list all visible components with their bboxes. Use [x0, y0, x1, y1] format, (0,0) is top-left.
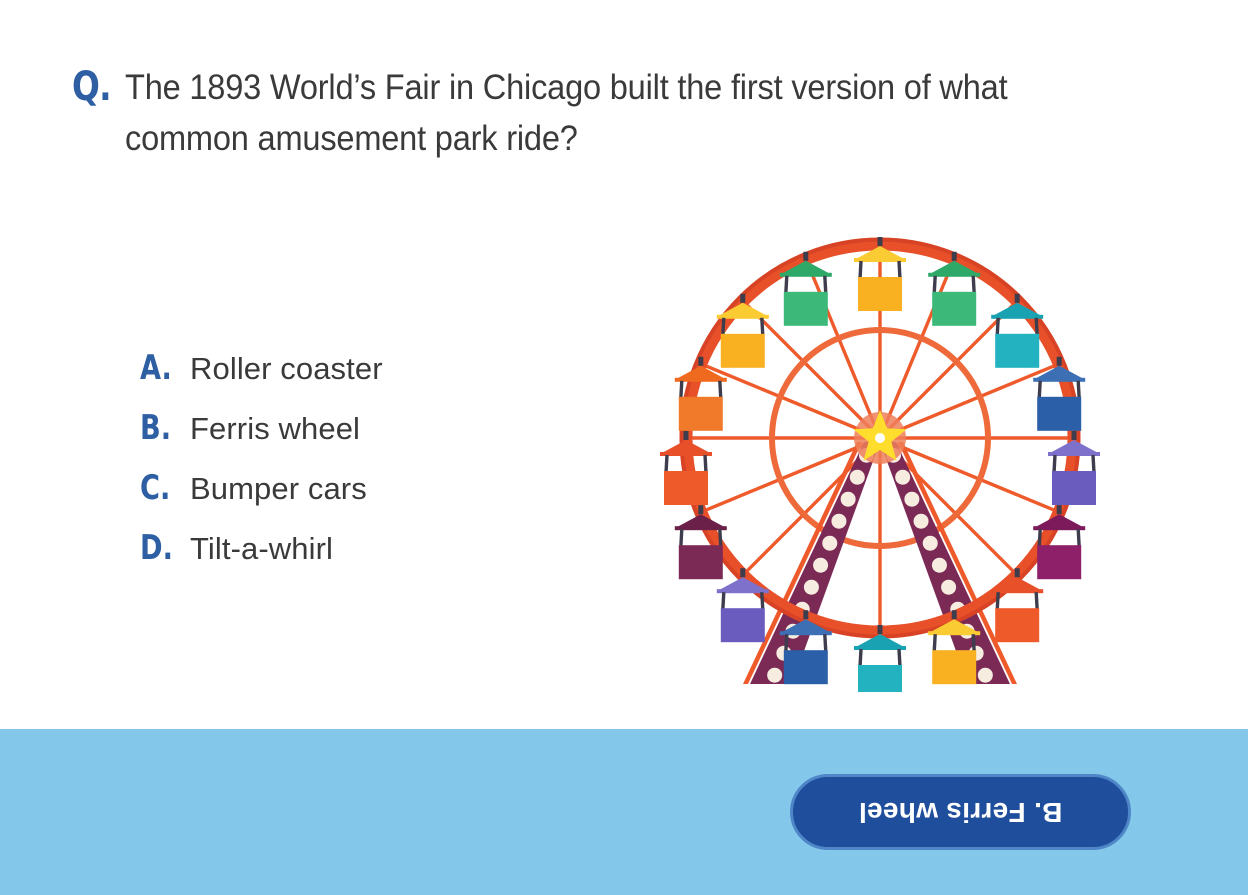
option-row-b[interactable]: B. Ferris wheel	[140, 408, 580, 468]
question-marker: Q.	[72, 62, 111, 112]
option-letter-b: B.	[140, 408, 177, 448]
option-text-a: Roller coaster	[190, 349, 383, 389]
answer-banner: B. Ferris wheel	[0, 729, 1248, 895]
option-row-a[interactable]: A. Roller coaster	[140, 348, 580, 408]
answer-pill[interactable]: B. Ferris wheel	[790, 774, 1131, 850]
answer-options-list: A. Roller coaster B. Ferris wheel C. Bum…	[140, 348, 580, 588]
ferris-wheel-icon	[628, 222, 1133, 692]
option-letter-d: D.	[140, 528, 177, 568]
option-text-c: Bumper cars	[190, 469, 367, 509]
option-row-c[interactable]: C. Bumper cars	[140, 468, 580, 528]
trivia-card: Q. The 1893 World’s Fair in Chicago buil…	[0, 0, 1248, 895]
question-block: Q. The 1893 World’s Fair in Chicago buil…	[72, 62, 1132, 164]
option-text-b: Ferris wheel	[190, 409, 360, 449]
question-text: The 1893 World’s Fair in Chicago built t…	[125, 62, 1061, 164]
option-text-d: Tilt-a-whirl	[190, 529, 333, 569]
option-letter-a: A.	[140, 348, 177, 388]
option-letter-c: C.	[140, 468, 177, 508]
answer-pill-label: B. Ferris wheel	[859, 796, 1063, 828]
ferris-wheel-illustration	[628, 222, 1133, 692]
option-row-d[interactable]: D. Tilt-a-whirl	[140, 528, 580, 588]
